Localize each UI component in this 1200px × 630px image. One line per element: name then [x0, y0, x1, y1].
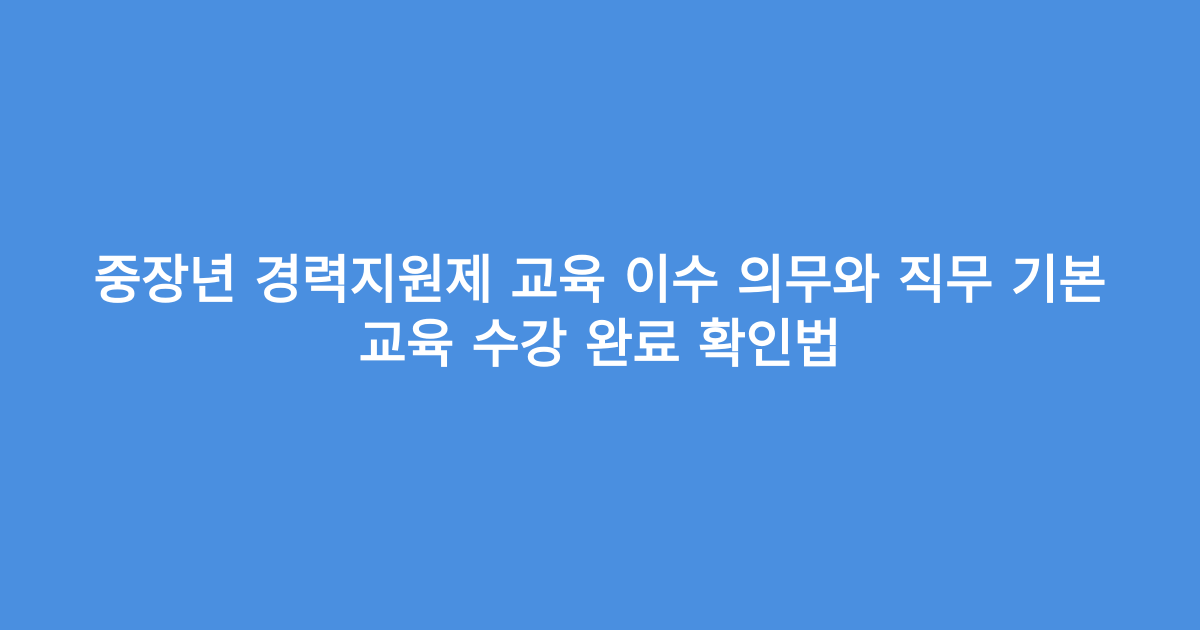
title-block: 중장년 경력지원제 교육 이수 의무와 직무 기본 교육 수강 완료 확인법 [70, 249, 1130, 377]
og-card: 중장년 경력지원제 교육 이수 의무와 직무 기본 교육 수강 완료 확인법 [0, 0, 1200, 630]
page-title: 중장년 경력지원제 교육 이수 의무와 직무 기본 교육 수강 완료 확인법 [70, 249, 1130, 377]
